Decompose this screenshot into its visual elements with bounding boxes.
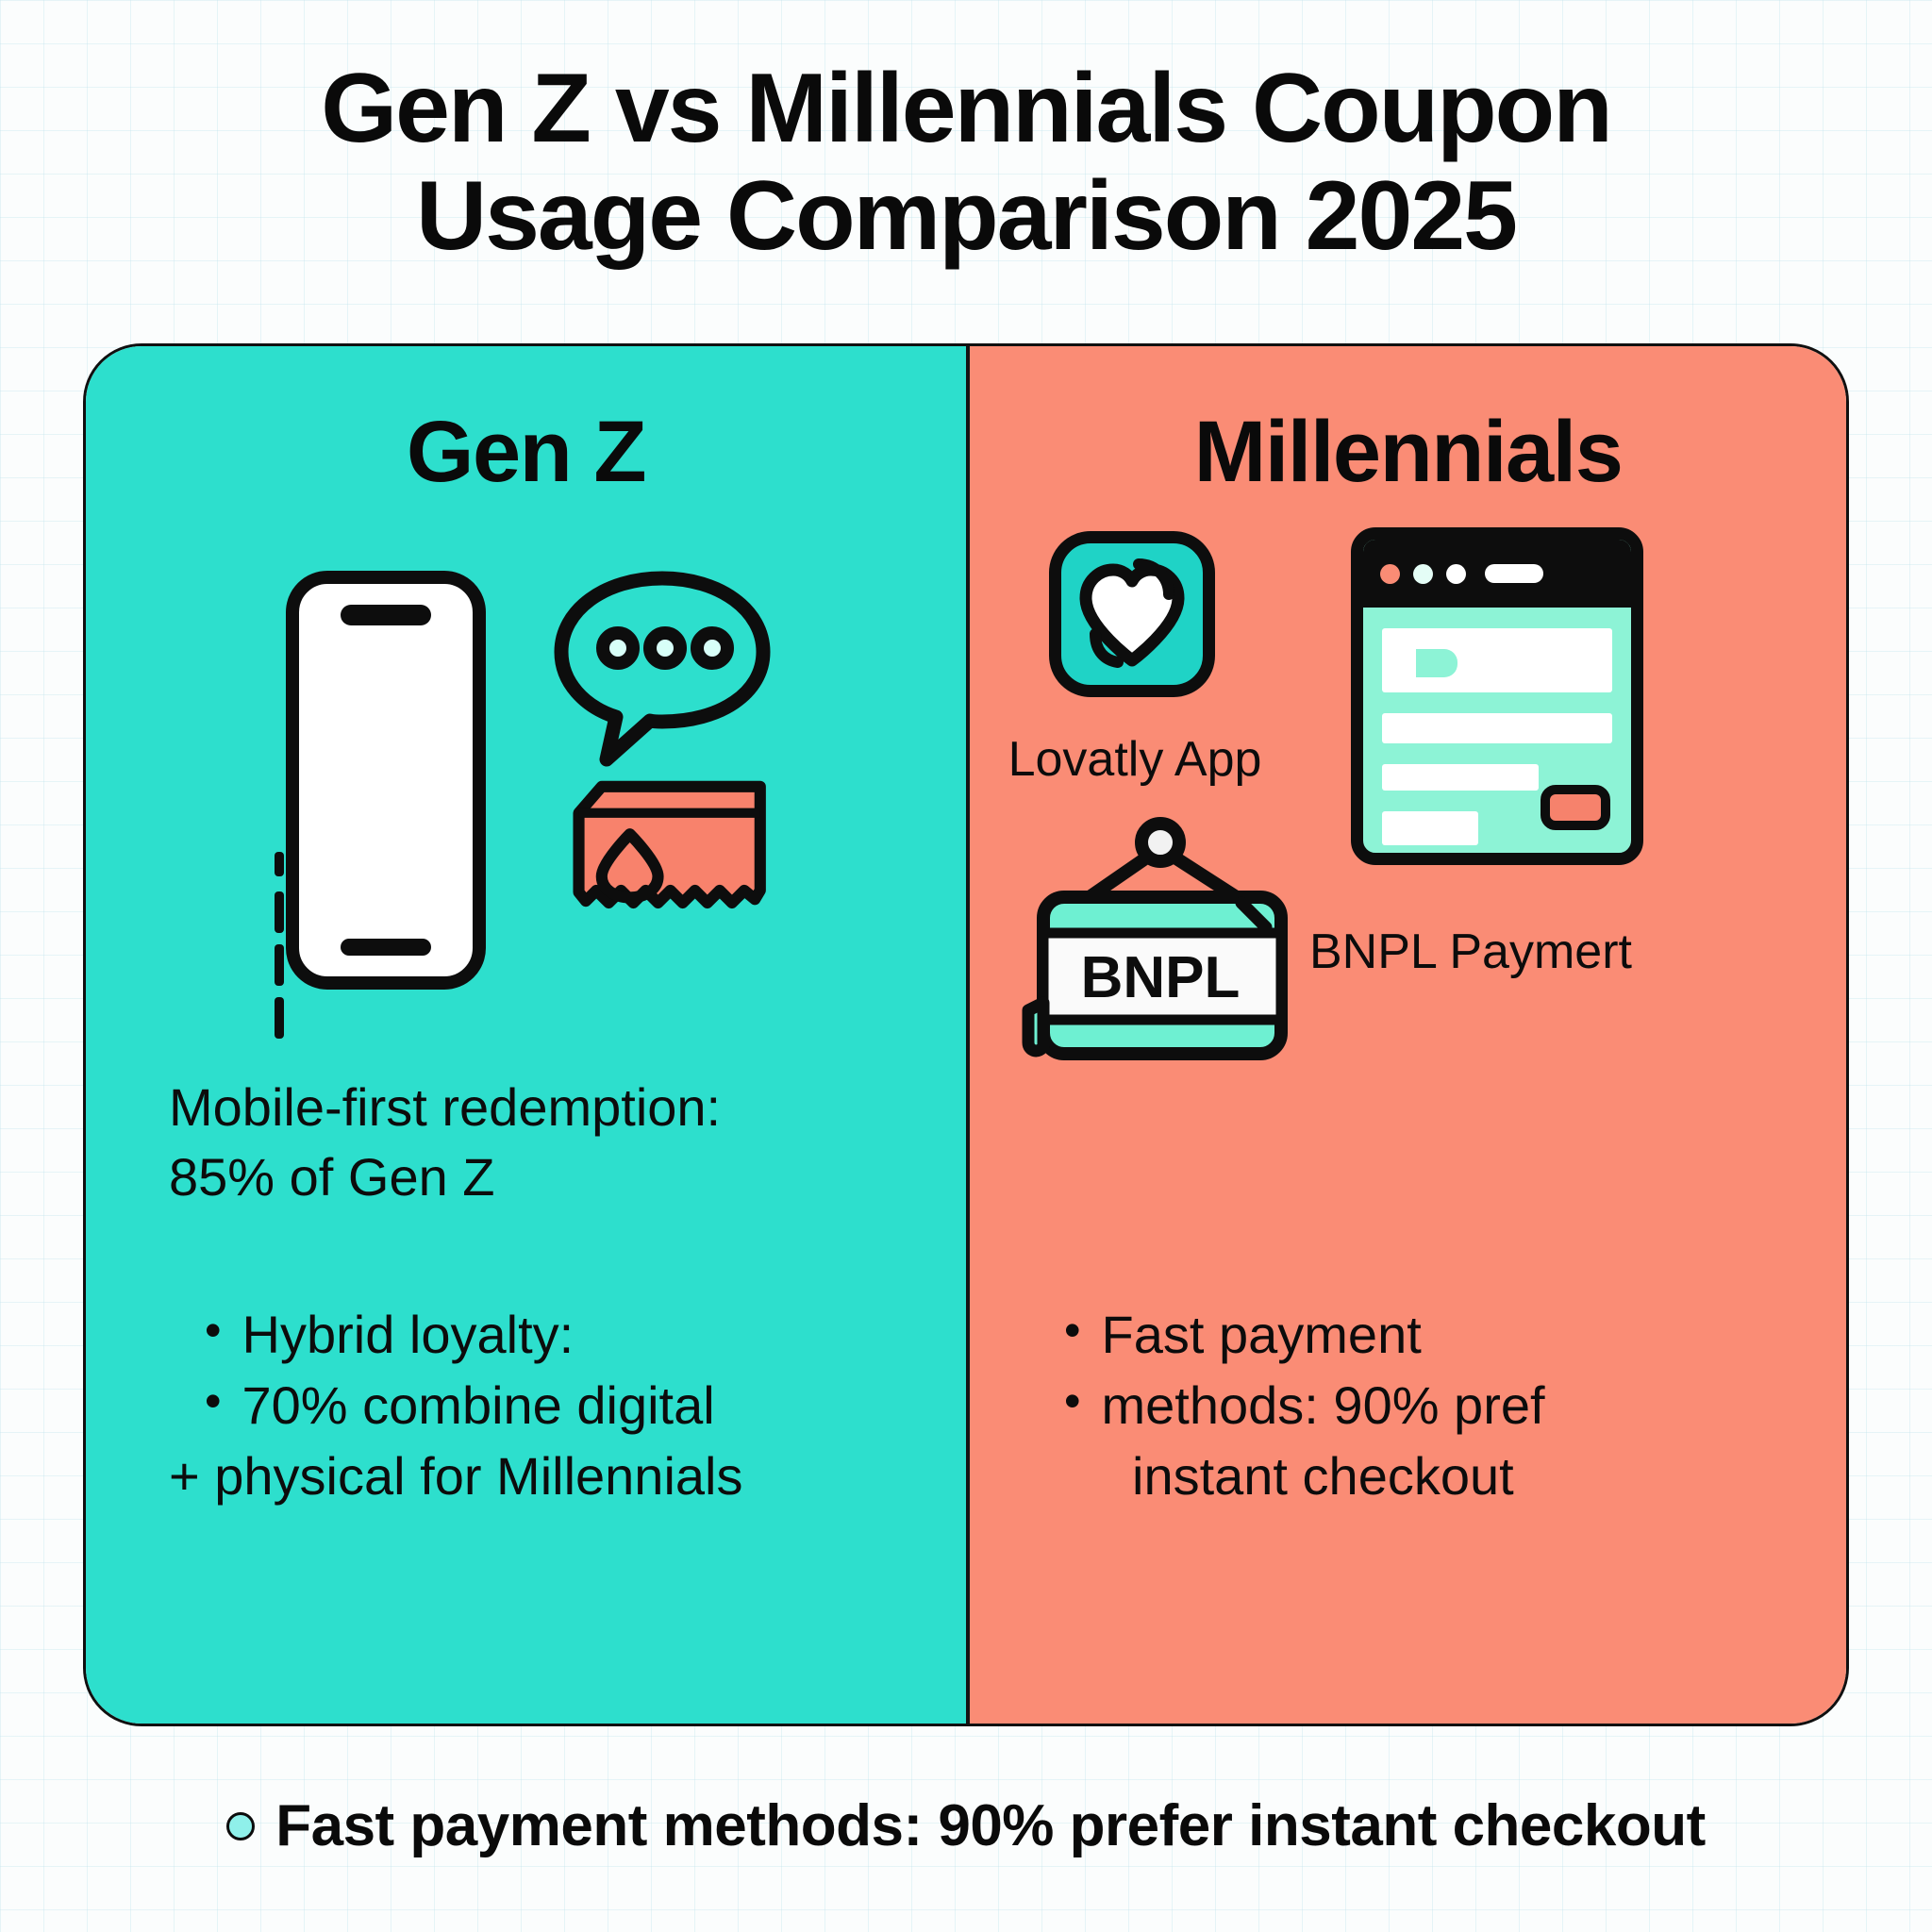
- gen-z-continuation-line: + physical for Millennials: [169, 1441, 961, 1511]
- bullet-dot-icon: •: [205, 1370, 222, 1433]
- gen-z-stat-line-1: Mobile-first redemption:: [169, 1073, 942, 1142]
- browser-content-line: [1382, 764, 1539, 791]
- phone-home-indicator: [341, 939, 431, 956]
- browser-content-notch: [1416, 649, 1457, 677]
- title-line-1: Gen Z vs Millennials Coupon: [0, 55, 1932, 162]
- gen-z-stat: Mobile-first redemption: 85% of Gen Z: [169, 1073, 942, 1212]
- browser-dot-white-icon: [1446, 564, 1466, 584]
- list-item: • Fast payment: [1028, 1299, 1811, 1370]
- list-item-label: methods: 90% pref: [1102, 1370, 1545, 1441]
- footer-text: Fast payment methods: 90% prefer instant…: [275, 1792, 1706, 1859]
- list-item: • 70% combine digital: [169, 1370, 961, 1441]
- chat-bubble-icon: [544, 565, 780, 773]
- browser-content-block: [1382, 628, 1612, 692]
- bullet-dot-icon: •: [1064, 1370, 1081, 1433]
- heart-glyph-icon: [1061, 543, 1203, 685]
- panel-gen-z-heading: Gen Z: [86, 403, 966, 502]
- browser-window-icon: [1351, 527, 1643, 865]
- millennials-bullet-list: • Fast payment • methods: 90% pref insta…: [1028, 1299, 1811, 1511]
- phone-side-button-1: [275, 852, 284, 876]
- phone-side-button-3: [275, 944, 284, 986]
- gen-z-icon-group: [86, 571, 966, 1005]
- bullet-dot-icon: •: [205, 1299, 222, 1362]
- browser-title-bar: [1363, 540, 1631, 608]
- browser-content-area: [1363, 608, 1631, 853]
- list-item: • Hybrid loyalty:: [169, 1299, 961, 1370]
- coupon-receipt-icon: [558, 771, 773, 929]
- footer-bullet-icon: [226, 1812, 255, 1840]
- browser-dot-red-icon: [1380, 564, 1400, 584]
- infographic-root: Gen Z vs Millennials Coupon Usage Compar…: [0, 0, 1932, 1932]
- smartphone-icon: [286, 571, 486, 990]
- phone-side-button-2: [275, 891, 284, 933]
- panel-millennials: Millennials Lovatly App: [966, 346, 1846, 1724]
- gen-z-stat-line-2: 85% of Gen Z: [169, 1142, 942, 1212]
- list-item: • methods: 90% pref: [1028, 1370, 1811, 1441]
- hanging-bnpl-sign-icon: BNPL: [1019, 816, 1302, 1080]
- heart-app-icon: [1049, 531, 1215, 697]
- list-item-label: Fast payment: [1102, 1299, 1422, 1370]
- bnpl-sign-text: BNPL: [1081, 945, 1241, 1010]
- bnpl-label: BNPL Paymert: [1309, 924, 1724, 980]
- browser-dot-white-icon: [1413, 564, 1433, 584]
- title-line-2: Usage Comparison 2025: [0, 162, 1932, 270]
- browser-content-line: [1382, 713, 1612, 743]
- list-item-label: Hybrid loyalty:: [242, 1299, 575, 1370]
- millennials-continuation-line: instant checkout: [1028, 1441, 1811, 1511]
- list-item-label: 70% combine digital: [242, 1370, 715, 1441]
- panel-gen-z: Gen Z: [86, 346, 966, 1724]
- footer-callout: Fast payment methods: 90% prefer instant…: [0, 1792, 1932, 1859]
- app-icon-label: Lovatly App: [989, 731, 1281, 788]
- browser-content-line: [1382, 811, 1478, 845]
- gen-z-bullet-list: • Hybrid loyalty: • 70% combine digital …: [169, 1299, 961, 1511]
- browser-cta-button: [1541, 785, 1610, 830]
- bullet-dot-icon: •: [1064, 1299, 1081, 1362]
- phone-notch: [341, 605, 431, 625]
- page-title: Gen Z vs Millennials Coupon Usage Compar…: [0, 55, 1932, 271]
- panel-millennials-heading: Millennials: [970, 403, 1846, 502]
- phone-side-button-4: [275, 997, 284, 1039]
- browser-address-pill: [1485, 564, 1543, 583]
- comparison-panels: Gen Z: [83, 343, 1849, 1726]
